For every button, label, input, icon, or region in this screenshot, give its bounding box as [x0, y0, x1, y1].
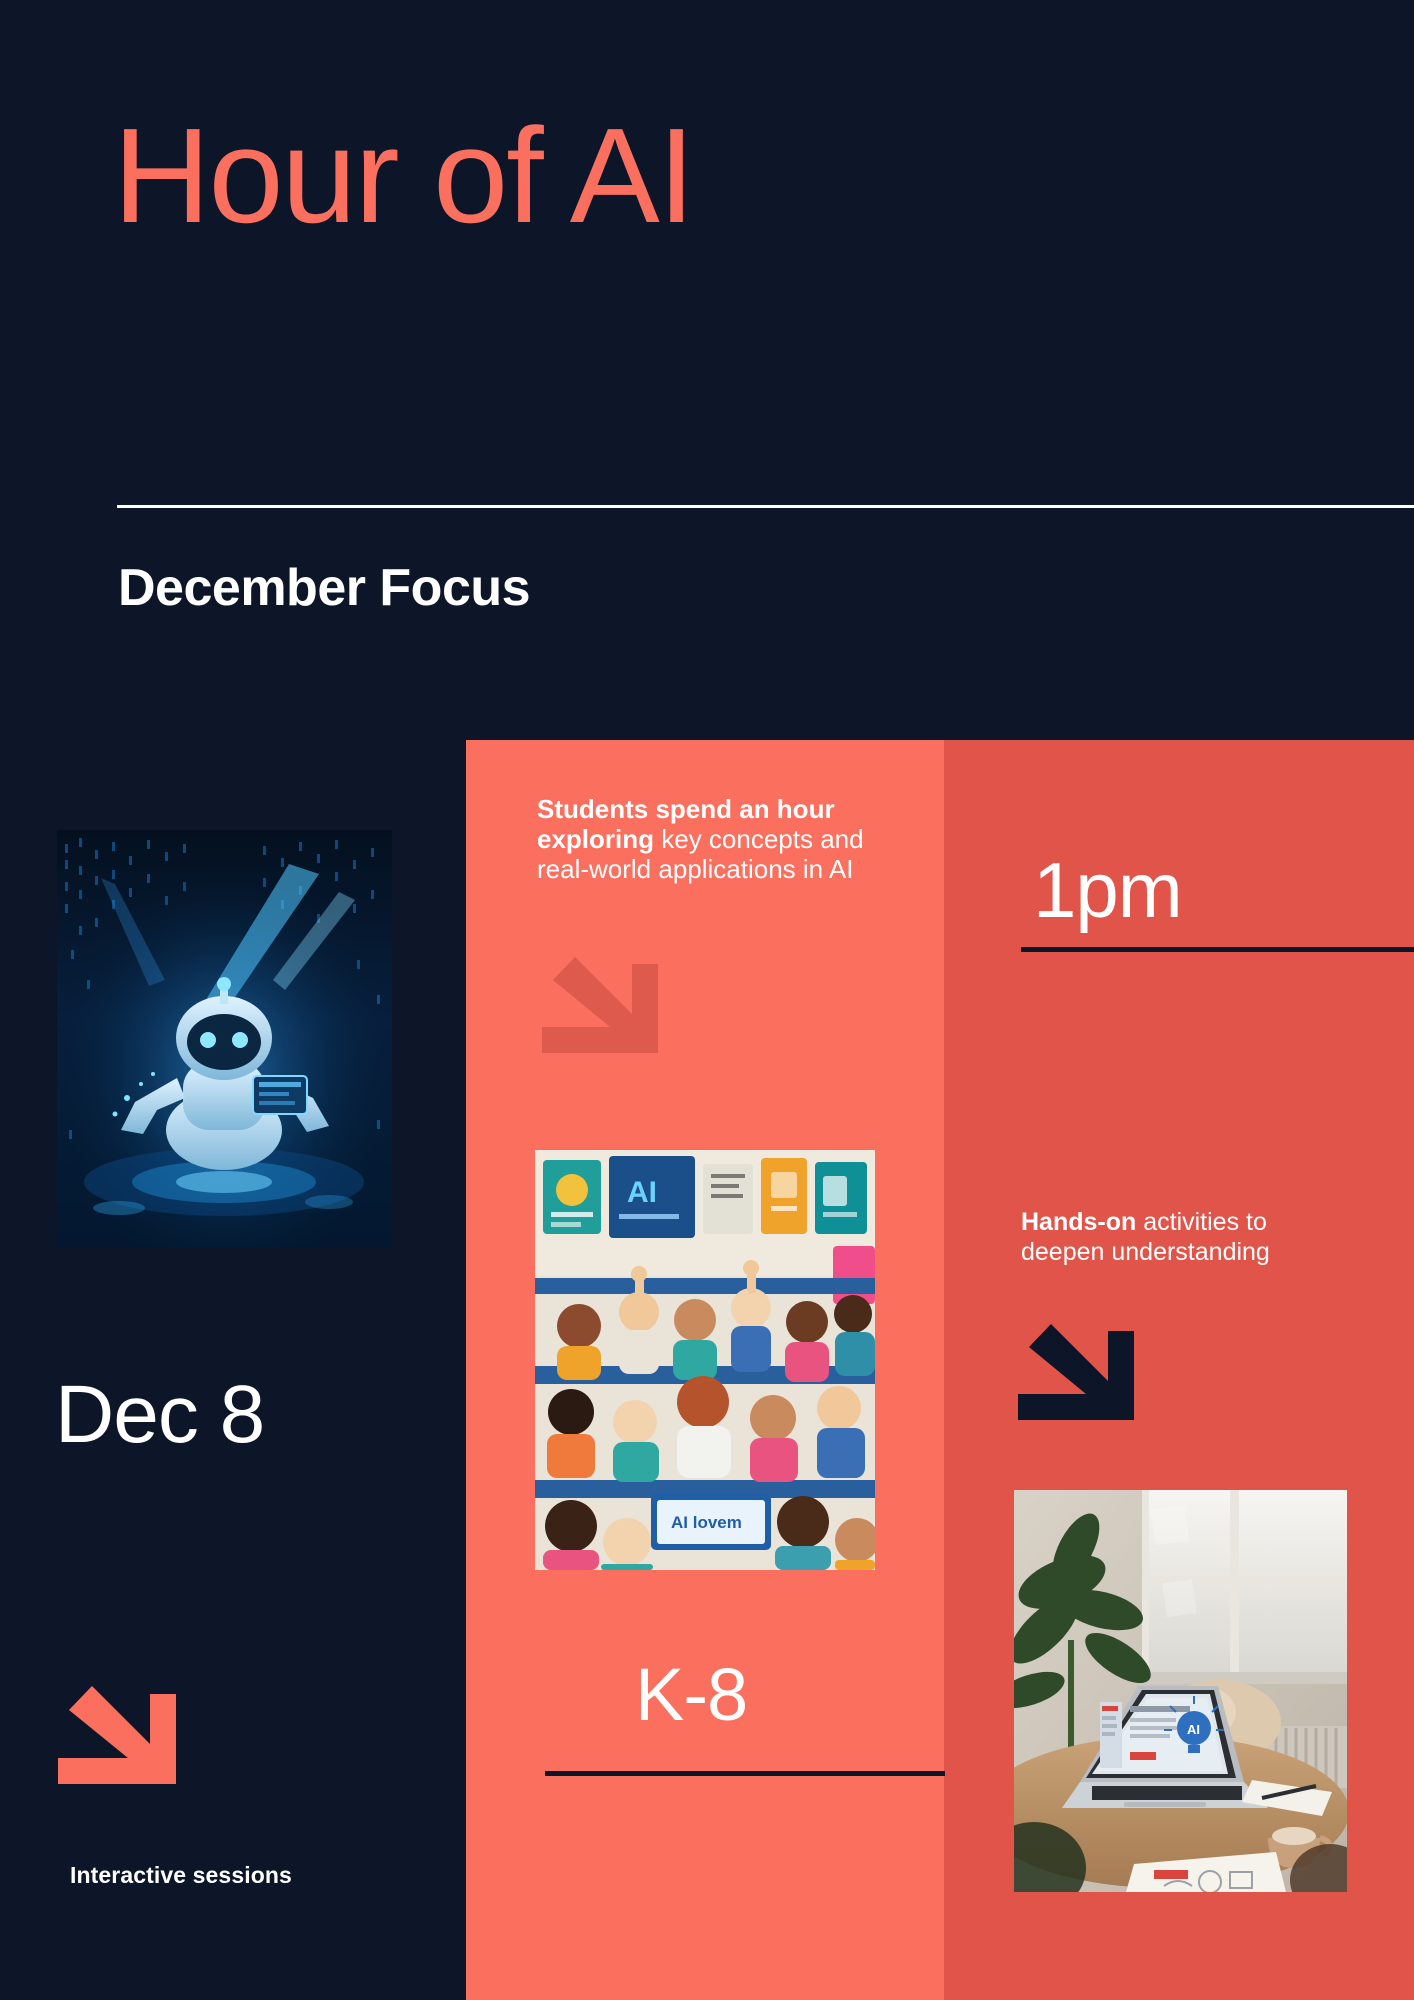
svg-text:AI lovem: AI lovem: [671, 1513, 742, 1532]
event-date: Dec 8: [55, 1368, 264, 1462]
grade-range: K-8: [635, 1652, 747, 1737]
svg-text:AI: AI: [1187, 1722, 1200, 1737]
arrow-down-right-icon: [542, 943, 658, 1053]
event-time: 1pm: [1033, 845, 1182, 936]
left-caption: Interactive sessions: [70, 1862, 292, 1889]
header-divider: [117, 505, 1414, 508]
time-divider: [1021, 947, 1414, 952]
laptop-desk-image: AI: [1014, 1490, 1347, 1892]
grade-divider: [545, 1771, 945, 1776]
svg-text:AI: AI: [627, 1176, 657, 1209]
arrow-down-right-icon: [58, 1672, 176, 1784]
classroom-students-image: AI: [535, 1150, 875, 1570]
subtitle: December Focus: [118, 558, 530, 618]
right-copy-bold: Hands-on: [1021, 1208, 1136, 1236]
right-panel-copy: Hands-on activities to deepen understand…: [1021, 1208, 1351, 1267]
poster-canvas: Hour of AI December Focus: [0, 0, 1414, 2000]
page-title: Hour of AI: [113, 108, 693, 243]
ai-robot-image: [57, 830, 392, 1248]
arrow-down-right-icon: [1018, 1310, 1134, 1420]
middle-panel-copy: Students spend an hour exploring key con…: [537, 794, 867, 884]
